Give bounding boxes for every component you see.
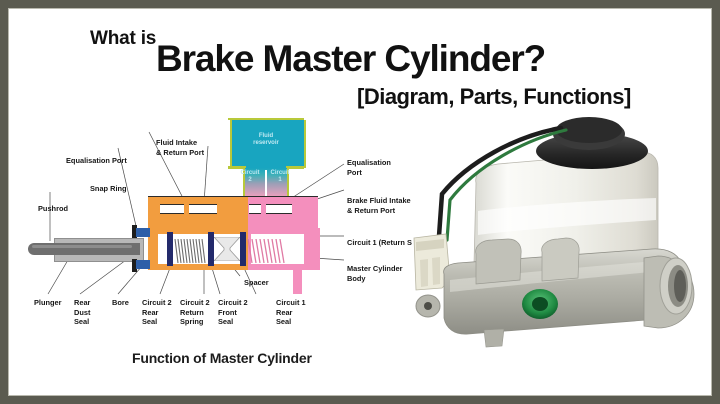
diagram-caption: Function of Master Cylinder: [132, 350, 312, 366]
outlet-port-left-bore: [424, 302, 432, 310]
rear-dust-seal-upper: [136, 228, 150, 237]
connector-rib-2: [432, 257, 440, 285]
label-brake-fluid-intake-return-port: Brake Fluid Intake & Return Port: [347, 196, 411, 215]
label-rear-dust-seal: Rear Dust Seal: [74, 298, 90, 327]
label-fluid-intake-return-port: Fluid Intake & Return Port: [156, 138, 204, 157]
intake-port-opening-left: [189, 204, 217, 214]
intake-port-opening-right: [266, 204, 292, 214]
label-circuit-2-rear-seal: Circuit 2 Rear Seal: [142, 298, 172, 327]
equalisation-port-opening-right: [249, 204, 261, 214]
image-frame: What is Brake Master Cylinder? [Diagram,…: [8, 8, 712, 396]
page-title: Brake Master Cylinder?: [156, 38, 545, 80]
rear-dust-seal-lower: [136, 260, 150, 269]
label-plunger: Plunger: [34, 298, 62, 308]
outlet-port-bore: [532, 297, 548, 311]
label-circuit-2-return-spring: Circuit 2 Return Spring: [180, 298, 210, 327]
label-circuit-2-front-seal: Circuit 2 Front Seal: [218, 298, 248, 327]
reservoir-mount-boss-rear: [476, 239, 521, 284]
circuit-2-return-spring-coils: [174, 239, 208, 263]
equalisation-port-opening-left: [160, 204, 184, 214]
label-bore: Bore: [112, 298, 129, 308]
label-equalisation-port-left: Equalisation Port: [66, 156, 127, 166]
brake-master-cylinder-photo: [406, 108, 712, 386]
label-spacer: Spacer: [244, 278, 269, 288]
circuit-2-body-lower: [148, 216, 248, 228]
circuit-1-outlet-wall: [304, 226, 314, 270]
reservoir-circuit-2-label: Circuit 2: [236, 170, 264, 184]
circuit-1-rear-seal-part: [240, 232, 246, 266]
label-pushrod: Pushrod: [38, 204, 68, 214]
fluid-reservoir-label: Fluid reservoir: [240, 133, 292, 147]
title-subtitle: [Diagram, Parts, Functions]: [357, 84, 631, 110]
label-circuit-1-rear-seal: Circuit 1 Rear Seal: [276, 298, 306, 327]
circuit-2-rear-seal-part: [167, 232, 173, 266]
label-snap-ring: Snap Ring: [90, 184, 127, 194]
bottom-mount-lug: [484, 329, 504, 347]
label-master-cylinder-body: Master Cylinder Body: [347, 264, 402, 283]
title-kicker: What is: [90, 28, 156, 50]
circuit-1-outlet-port: [293, 268, 302, 294]
connector-rib-1: [420, 259, 428, 287]
master-cylinder-cross-section-diagram: Fluid reservoir Circuit 2 Circuit 1: [8, 108, 408, 358]
label-circuit-1-return: Circuit 1 (Return S: [347, 238, 412, 248]
label-equalisation-port-right: Equalisation Port: [347, 158, 391, 177]
circuit-1-return-spring-coils: [247, 239, 287, 263]
pushrod-highlight: [32, 245, 132, 248]
reservoir-mount-boss-front: [542, 238, 579, 281]
pushrod-bore-hole: [674, 270, 686, 302]
spacer-outline: [214, 237, 240, 261]
reservoir-circuit-1-label: Circuit 1: [266, 170, 294, 184]
